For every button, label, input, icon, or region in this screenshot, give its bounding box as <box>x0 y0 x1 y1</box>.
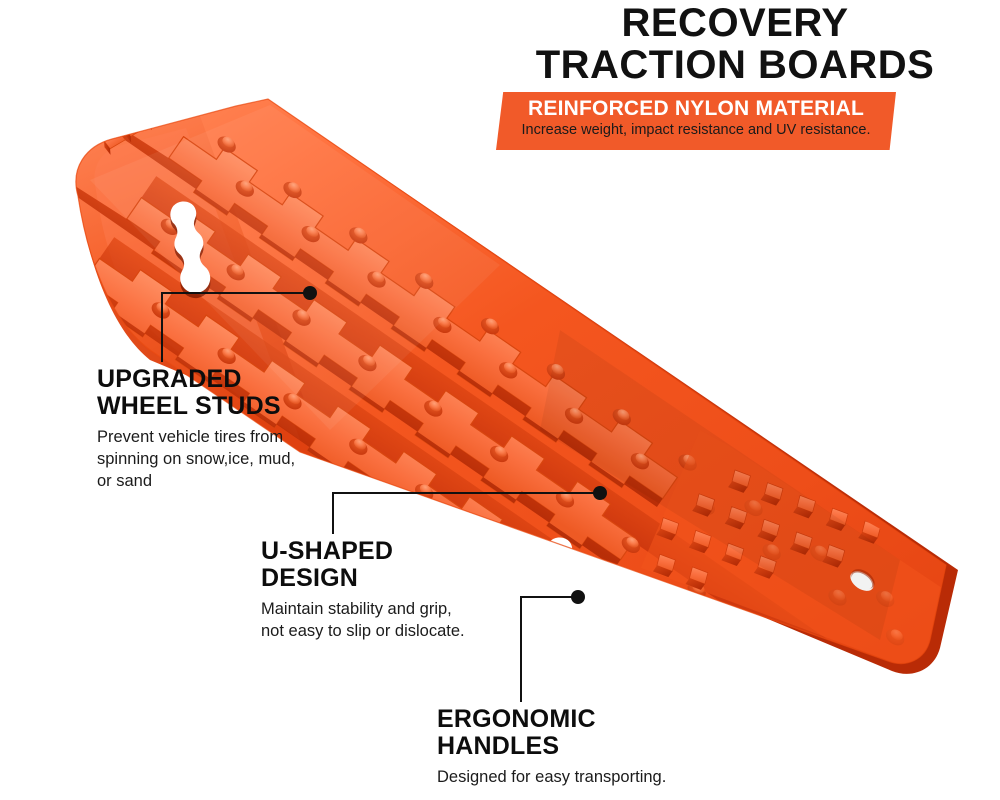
callout-title-line-2: DESIGN <box>261 565 465 592</box>
callout-title-line-2: HANDLES <box>437 733 666 760</box>
callout-body-line-1: Designed for easy transporting. <box>437 766 666 788</box>
callout-u-shaped-design: U-SHAPED DESIGN Maintain stability and g… <box>261 538 465 642</box>
ramp-hole <box>847 565 878 595</box>
callout-ergonomic-handles: ERGONOMIC HANDLES Designed for easy tran… <box>437 706 666 788</box>
leader-line-ergonomic-handles <box>521 590 585 702</box>
callout-body-line-2: spinning on snow,ice, mud, <box>97 448 295 470</box>
leader-dot <box>571 590 585 604</box>
product-infographic-page: RECOVERY TRACTION BOARDS REINFORCED NYLO… <box>0 0 1000 800</box>
callout-body-line-3: or sand <box>97 470 295 492</box>
callout-body-line-2: not easy to slip or dislocate. <box>261 620 465 642</box>
callout-title-line-1: UPGRADED <box>97 366 295 393</box>
callout-title-line-1: U-SHAPED <box>261 538 465 565</box>
ergonomic-handle-cutout <box>512 532 620 640</box>
callout-title-line-1: ERGONOMIC <box>437 706 666 733</box>
title-line-1: RECOVERY <box>470 2 1000 44</box>
ramp-hole <box>785 645 816 675</box>
page-title: RECOVERY TRACTION BOARDS <box>470 2 1000 86</box>
rib-channel-2 <box>97 237 838 761</box>
leader-dot <box>593 486 607 500</box>
material-banner: REINFORCED NYLON MATERIAL Increase weigh… <box>496 92 896 150</box>
title-line-2: TRACTION BOARDS <box>470 44 1000 86</box>
leader-dot <box>303 286 317 300</box>
callout-body-line-1: Maintain stability and grip, <box>261 598 465 620</box>
leader-line-upgraded-wheel-studs <box>162 286 317 362</box>
banner-headline: REINFORCED NYLON MATERIAL <box>496 97 896 121</box>
callout-title-line-2: WHEEL STUDS <box>97 393 295 420</box>
ergonomic-handle-cutout <box>136 196 244 304</box>
callout-body-line-1: Prevent vehicle tires from <box>97 426 295 448</box>
ramp-teeth-top-edge <box>92 54 262 156</box>
leader-line-u-shaped-design <box>333 486 607 534</box>
banner-subtext: Increase weight, impact resistance and U… <box>496 121 896 140</box>
ramp-section-bottom-right <box>617 413 960 680</box>
callout-upgraded-wheel-studs: UPGRADED WHEEL STUDS Prevent vehicle tir… <box>97 366 295 492</box>
